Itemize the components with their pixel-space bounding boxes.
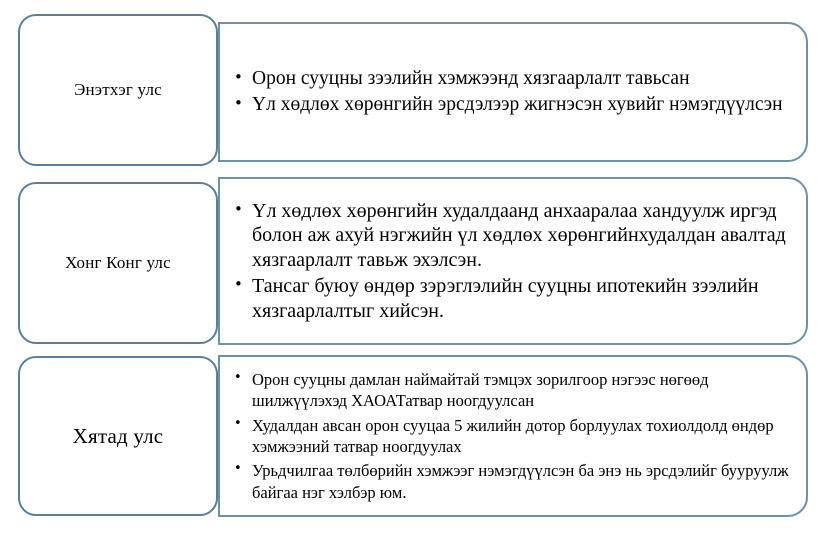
measures-box-3: • Орон сууцны дамлан наймайтай тэмцэх зо…: [218, 355, 808, 517]
measures-box-1: • Орон сууцны зээлийн хэмжээнд хязгаарла…: [218, 22, 808, 162]
measure-text: Урьдчилгаа төлбөрийн хэмжээг нэмэгдүүлсэ…: [252, 461, 789, 501]
bullet-icon: •: [234, 370, 242, 387]
country-label-text-1: Энэтхэг улс: [74, 80, 162, 100]
measure-text: Худалдан авсан орон сууцаа 5 жилийн дото…: [252, 416, 774, 456]
measure-text: Тансаг буюу өндөр зэрэглэлийн сууцны ипо…: [252, 275, 759, 322]
measures-box-2: • Үл хөдлөх хөрөнгийн худалдаанд анхаара…: [218, 177, 808, 345]
list-item: • Үл хөдлөх хөрөнгийн эрсдэлээр жигнэсэн…: [228, 93, 792, 117]
measures-list-3: • Орон сууцны дамлан наймайтай тэмцэх зо…: [228, 366, 794, 507]
bullet-icon: •: [234, 461, 242, 478]
list-item: • Үл хөдлөх хөрөнгийн худалдаанд анхаара…: [228, 199, 792, 273]
measures-list-2: • Үл хөдлөх хөрөнгийн худалдаанд анхаара…: [228, 198, 792, 325]
bullet-icon: •: [234, 416, 242, 433]
bullet-icon: •: [234, 68, 243, 87]
country-label-box-3: Хятад улс: [18, 356, 218, 516]
country-measures-diagram: Энэтхэг улс • Орон сууцны зээлийн хэмжээ…: [0, 0, 825, 538]
list-item: • Урьдчилгаа төлбөрийн хэмжээг нэмэгдүүл…: [228, 460, 794, 503]
list-item: • Худалдан авсан орон сууцаа 5 жилийн до…: [228, 415, 794, 458]
country-label-text-2: Хонг Конг улс: [65, 253, 171, 273]
list-item: • Орон сууцны зээлийн хэмжээнд хязгаарла…: [228, 67, 792, 91]
measure-text: Үл хөдлөх хөрөнгийн худалдаанд анхаарала…: [252, 200, 786, 272]
measure-text: Орон сууцны дамлан наймайтай тэмцэх зори…: [252, 370, 709, 410]
country-label-box-2: Хонг Конг улс: [18, 182, 218, 344]
measure-text: Орон сууцны зээлийн хэмжээнд хязгаарлалт…: [252, 68, 690, 89]
country-label-text-3: Хятад улс: [73, 424, 164, 448]
measures-list-1: • Орон сууцны зээлийн хэмжээнд хязгаарла…: [228, 65, 792, 119]
list-item: • Тансаг буюу өндөр зэрэглэлийн сууцны и…: [228, 274, 792, 324]
list-item: • Орон сууцны дамлан наймайтай тэмцэх зо…: [228, 369, 794, 412]
measure-text: Үл хөдлөх хөрөнгийн эрсдэлээр жигнэсэн х…: [252, 94, 783, 115]
bullet-icon: •: [234, 200, 243, 219]
country-label-box-1: Энэтхэг улс: [18, 14, 218, 166]
bullet-icon: •: [234, 94, 243, 113]
bullet-icon: •: [234, 275, 243, 294]
